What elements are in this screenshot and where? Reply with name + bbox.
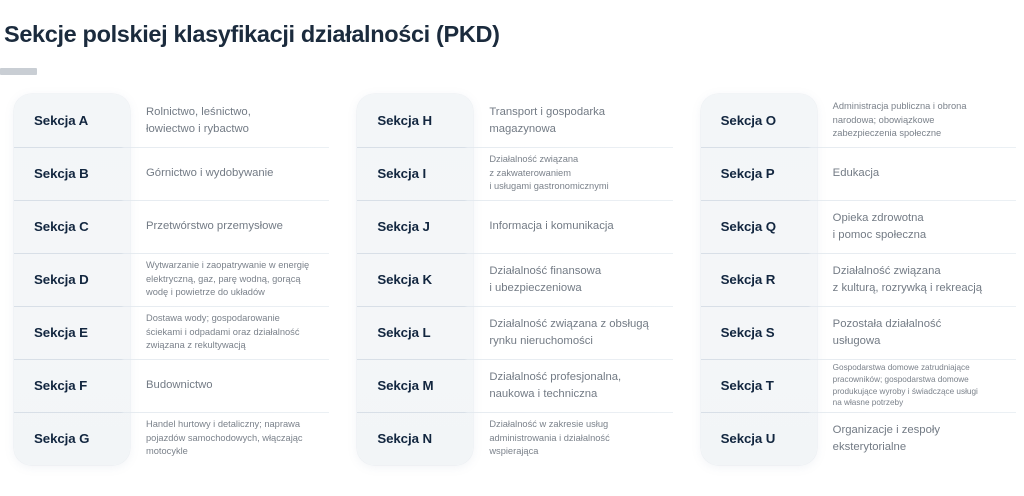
section-description-line: łowiectwo i rybactwo	[146, 121, 325, 137]
section-label: Sekcja O	[695, 113, 811, 128]
section-description: Działalność związanaz kulturą, rozrywką …	[811, 263, 1016, 295]
section-label: Sekcja I	[351, 166, 467, 181]
section-description: Działalność związana z obsługąrynku nier…	[467, 316, 672, 348]
section-description: Budownictwo	[124, 377, 329, 393]
section-description-line: Transport i gospodarka	[489, 104, 668, 120]
section-description-line: Pozostała działalność	[833, 316, 1012, 332]
section-label: Sekcja S	[695, 325, 811, 340]
section-label: Sekcja Q	[695, 219, 811, 234]
section-description-line: Organizacje i zespoły	[833, 422, 1012, 438]
section-label: Sekcja A	[8, 113, 124, 128]
section-description: Opieka zdrowotnai pomoc społeczna	[811, 210, 1016, 242]
section-column: Sekcja OAdministracja publiczna i obrona…	[695, 90, 1016, 490]
section-row[interactable]: Sekcja QOpieka zdrowotnai pomoc społeczn…	[695, 200, 1016, 253]
section-description-line: administrowania i działalność	[489, 432, 668, 445]
section-rows: Sekcja OAdministracja publiczna i obrona…	[695, 94, 1016, 465]
section-description-line: rynku nieruchomości	[489, 333, 668, 349]
section-row[interactable]: Sekcja LDziałalność związana z obsługąry…	[351, 306, 672, 359]
section-column: Sekcja ARolnictwo, leśnictwo,łowiectwo i…	[8, 90, 329, 490]
section-label: Sekcja E	[8, 325, 124, 340]
section-row[interactable]: Sekcja TGospodarstwa domowe zatrudniając…	[695, 359, 1016, 412]
section-description: Działalność związana z zakwaterowaniemi …	[467, 153, 672, 193]
section-label: Sekcja D	[8, 272, 124, 287]
section-description: Działalność profesjonalna,naukowa i tech…	[467, 369, 672, 401]
section-rows: Sekcja HTransport i gospodarkamagazynowa…	[351, 94, 672, 465]
section-row[interactable]: Sekcja DWytwarzanie i zaopatrywanie w en…	[8, 253, 329, 306]
section-description: Wytwarzanie i zaopatrywanie w energięele…	[124, 259, 329, 299]
section-description-line: Działalność finansowa	[489, 263, 668, 279]
section-description-line: Opieka zdrowotna	[833, 210, 1012, 226]
section-rows: Sekcja ARolnictwo, leśnictwo,łowiectwo i…	[8, 94, 329, 465]
section-description-line: Rolnictwo, leśnictwo,	[146, 104, 325, 120]
section-description-line: związana z rekultywacją	[146, 339, 325, 352]
section-description-line: Przetwórstwo przemysłowe	[146, 218, 325, 234]
section-description-line: Działalność związana	[489, 153, 668, 166]
section-description-line: Handel hurtowy i detaliczny; naprawa	[146, 418, 325, 431]
section-description-line: elektryczną, gaz, parę wodną, gorącą	[146, 273, 325, 286]
section-description-line: i pomoc społeczna	[833, 227, 1012, 243]
page-header: Sekcje polskiej klasyfikacji działalnośc…	[0, 22, 1024, 48]
section-description-line: Działalność związana	[833, 263, 1012, 279]
section-row[interactable]: Sekcja HTransport i gospodarkamagazynowa	[351, 94, 672, 147]
section-description: Rolnictwo, leśnictwo,łowiectwo i rybactw…	[124, 104, 329, 136]
section-label: Sekcja N	[351, 431, 467, 446]
section-row[interactable]: Sekcja GHandel hurtowy i detaliczny; nap…	[8, 412, 329, 465]
section-row[interactable]: Sekcja ARolnictwo, leśnictwo,łowiectwo i…	[8, 94, 329, 147]
section-label: Sekcja K	[351, 272, 467, 287]
section-label: Sekcja H	[351, 113, 467, 128]
section-row[interactable]: Sekcja EDostawa wody; gospodarowanieście…	[8, 306, 329, 359]
section-row[interactable]: Sekcja CPrzetwórstwo przemysłowe	[8, 200, 329, 253]
section-row[interactable]: Sekcja RDziałalność związanaz kulturą, r…	[695, 253, 1016, 306]
section-description-line: usługowa	[833, 333, 1012, 349]
section-row[interactable]: Sekcja BGórnictwo i wydobywanie	[8, 147, 329, 200]
section-label: Sekcja R	[695, 272, 811, 287]
title-accent-bar	[0, 68, 37, 75]
section-description-line: Budownictwo	[146, 377, 325, 393]
section-description-line: Dostawa wody; gospodarowanie	[146, 312, 325, 325]
section-row[interactable]: Sekcja UOrganizacje i zespołyeksterytori…	[695, 412, 1016, 465]
section-description-line: Działalność związana z obsługą	[489, 316, 668, 332]
section-description: Przetwórstwo przemysłowe	[124, 218, 329, 234]
section-description: Administracja publiczna i obronanarodowa…	[811, 100, 1016, 140]
page-title: Sekcje polskiej klasyfikacji działalnośc…	[4, 22, 1024, 48]
section-description-line: ściekami i odpadami oraz działalność	[146, 326, 325, 339]
section-description-line: Wytwarzanie i zaopatrywanie w energię	[146, 259, 325, 272]
section-description-line: i usługami gastronomicznymi	[489, 180, 668, 193]
section-description-line: produkujące wyroby i świadczące usługi	[833, 386, 1012, 398]
section-description: Działalność w zakresie usługadministrowa…	[467, 418, 672, 458]
section-label: Sekcja T	[695, 378, 811, 393]
section-row[interactable]: Sekcja MDziałalność profesjonalna,naukow…	[351, 359, 672, 412]
section-description: Organizacje i zespołyeksterytorialne	[811, 422, 1016, 454]
section-description: Handel hurtowy i detaliczny; naprawapoja…	[124, 418, 329, 458]
section-description-line: eksterytorialne	[833, 439, 1012, 455]
section-description-line: Działalność w zakresie usług	[489, 418, 668, 431]
section-label: Sekcja G	[8, 431, 124, 446]
section-description: Gospodarstwa domowe zatrudniającepracown…	[811, 362, 1016, 409]
section-description-line: naukowa i techniczna	[489, 386, 668, 402]
section-column: Sekcja HTransport i gospodarkamagazynowa…	[351, 90, 672, 490]
section-description-line: magazynowa	[489, 121, 668, 137]
section-label: Sekcja L	[351, 325, 467, 340]
section-description-line: motocykle	[146, 445, 325, 458]
section-label: Sekcja M	[351, 378, 467, 393]
section-row[interactable]: Sekcja OAdministracja publiczna i obrona…	[695, 94, 1016, 147]
section-description-line: narodowa; obowiązkowe	[833, 114, 1012, 127]
section-label: Sekcja J	[351, 219, 467, 234]
section-description-line: Administracja publiczna i obrona	[833, 100, 1012, 113]
section-description-line: z kulturą, rozrywką i rekreacją	[833, 280, 1012, 296]
section-row[interactable]: Sekcja JInformacja i komunikacja	[351, 200, 672, 253]
section-row[interactable]: Sekcja PEdukacja	[695, 147, 1016, 200]
section-row[interactable]: Sekcja FBudownictwo	[8, 359, 329, 412]
section-label: Sekcja U	[695, 431, 811, 446]
section-label: Sekcja C	[8, 219, 124, 234]
section-row[interactable]: Sekcja SPozostała działalnośćusługowa	[695, 306, 1016, 359]
section-description: Pozostała działalnośćusługowa	[811, 316, 1016, 348]
section-description-line: pracowników; gospodarstwa domowe	[833, 374, 1012, 386]
section-description: Informacja i komunikacja	[467, 218, 672, 234]
section-description: Edukacja	[811, 165, 1016, 181]
section-label: Sekcja F	[8, 378, 124, 393]
section-label: Sekcja P	[695, 166, 811, 181]
section-description-line: wodę i powietrze do układów	[146, 286, 325, 299]
section-row[interactable]: Sekcja IDziałalność związana z zakwatero…	[351, 147, 672, 200]
section-description-line: Górnictwo i wydobywanie	[146, 165, 325, 181]
section-description-line: Działalność profesjonalna,	[489, 369, 668, 385]
section-description: Transport i gospodarkamagazynowa	[467, 104, 672, 136]
section-label: Sekcja B	[8, 166, 124, 181]
section-description-line: na własne potrzeby	[833, 397, 1012, 409]
section-description-line: Edukacja	[833, 165, 1012, 181]
section-description: Górnictwo i wydobywanie	[124, 165, 329, 181]
section-description-line: Gospodarstwa domowe zatrudniające	[833, 362, 1012, 374]
section-description-line: i ubezpieczeniowa	[489, 280, 668, 296]
section-description-line: wspierająca	[489, 445, 668, 458]
section-description-line: pojazdów samochodowych, włączając	[146, 432, 325, 445]
section-row[interactable]: Sekcja NDziałalność w zakresie usługadmi…	[351, 412, 672, 465]
section-row[interactable]: Sekcja KDziałalność finansowai ubezpiecz…	[351, 253, 672, 306]
section-description-line: zabezpieczenia społeczne	[833, 127, 1012, 140]
section-description: Dostawa wody; gospodarowanieściekami i o…	[124, 312, 329, 352]
section-description-line: z zakwaterowaniem	[489, 167, 668, 180]
section-description: Działalność finansowai ubezpieczeniowa	[467, 263, 672, 295]
section-description-line: Informacja i komunikacja	[489, 218, 668, 234]
pkd-sections-columns: Sekcja ARolnictwo, leśnictwo,łowiectwo i…	[0, 90, 1024, 490]
